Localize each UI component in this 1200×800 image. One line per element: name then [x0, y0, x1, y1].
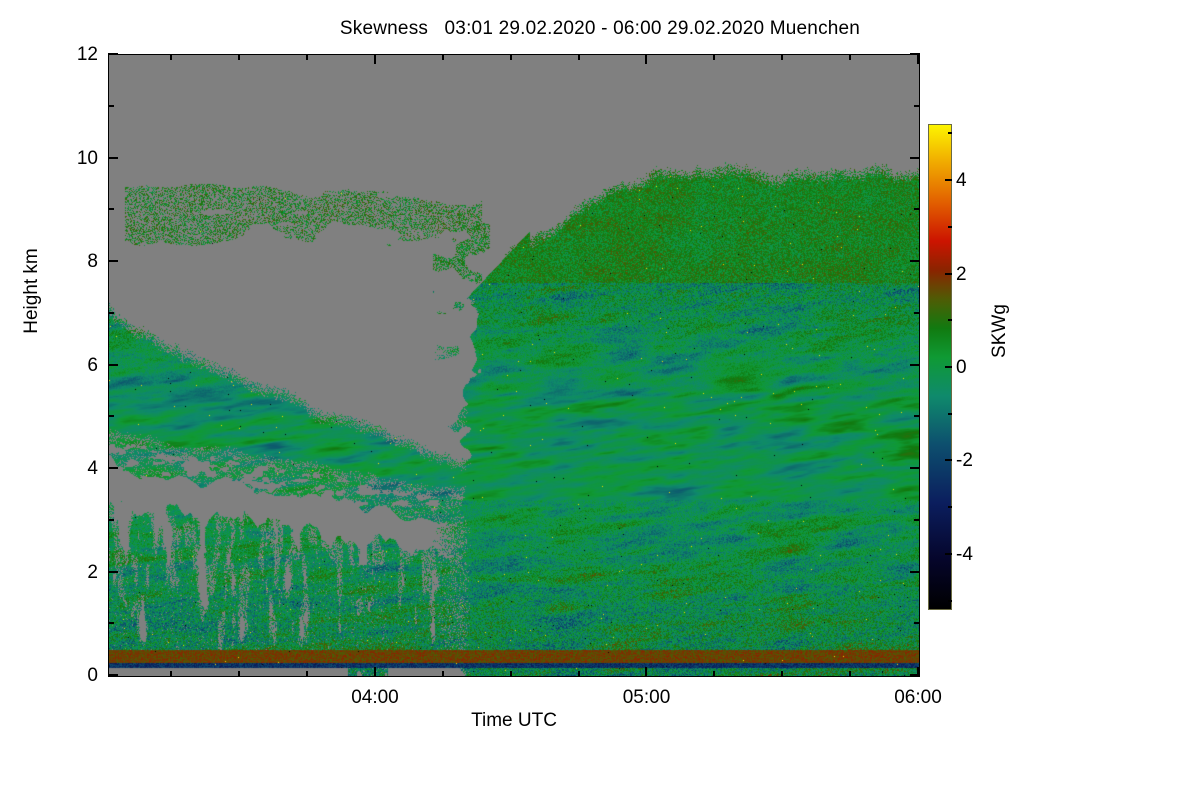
colorbar-tick-label: 2: [956, 264, 967, 286]
x-axis-title: Time UTC: [108, 710, 920, 732]
colorbar-title: SKWg: [989, 271, 1011, 391]
skewness-figure: Skewness 03:01 29.02.2020 - 06:00 29.02.…: [0, 0, 1200, 800]
skewness-heatmap-canvas: [109, 55, 919, 676]
colorbar: [928, 124, 952, 610]
colorbar-tick-label: -4: [956, 544, 973, 566]
colorbar-gradient: [928, 124, 952, 610]
plot-area: [108, 54, 920, 677]
x-tick-label: 05:00: [623, 687, 671, 709]
y-tick-label: 4: [87, 458, 98, 480]
x-tick-label: 04:00: [351, 687, 399, 709]
colorbar-tick-label: -2: [956, 450, 973, 472]
colorbar-tick-label: 4: [956, 170, 967, 192]
y-axis-tick-labels: 024681012: [48, 54, 98, 677]
y-tick-label: 8: [87, 251, 98, 273]
colorbar-tick-label: 0: [956, 357, 967, 379]
y-tick-label: 0: [87, 665, 98, 687]
page-title: Skewness 03:01 29.02.2020 - 06:00 29.02.…: [0, 18, 1200, 40]
y-tick-label: 12: [77, 44, 98, 66]
y-axis-title: Height km: [21, 201, 43, 381]
y-tick-label: 2: [87, 562, 98, 584]
y-tick-label: 10: [77, 148, 98, 170]
x-tick-label: 06:00: [894, 687, 942, 709]
y-tick-label: 6: [87, 355, 98, 377]
